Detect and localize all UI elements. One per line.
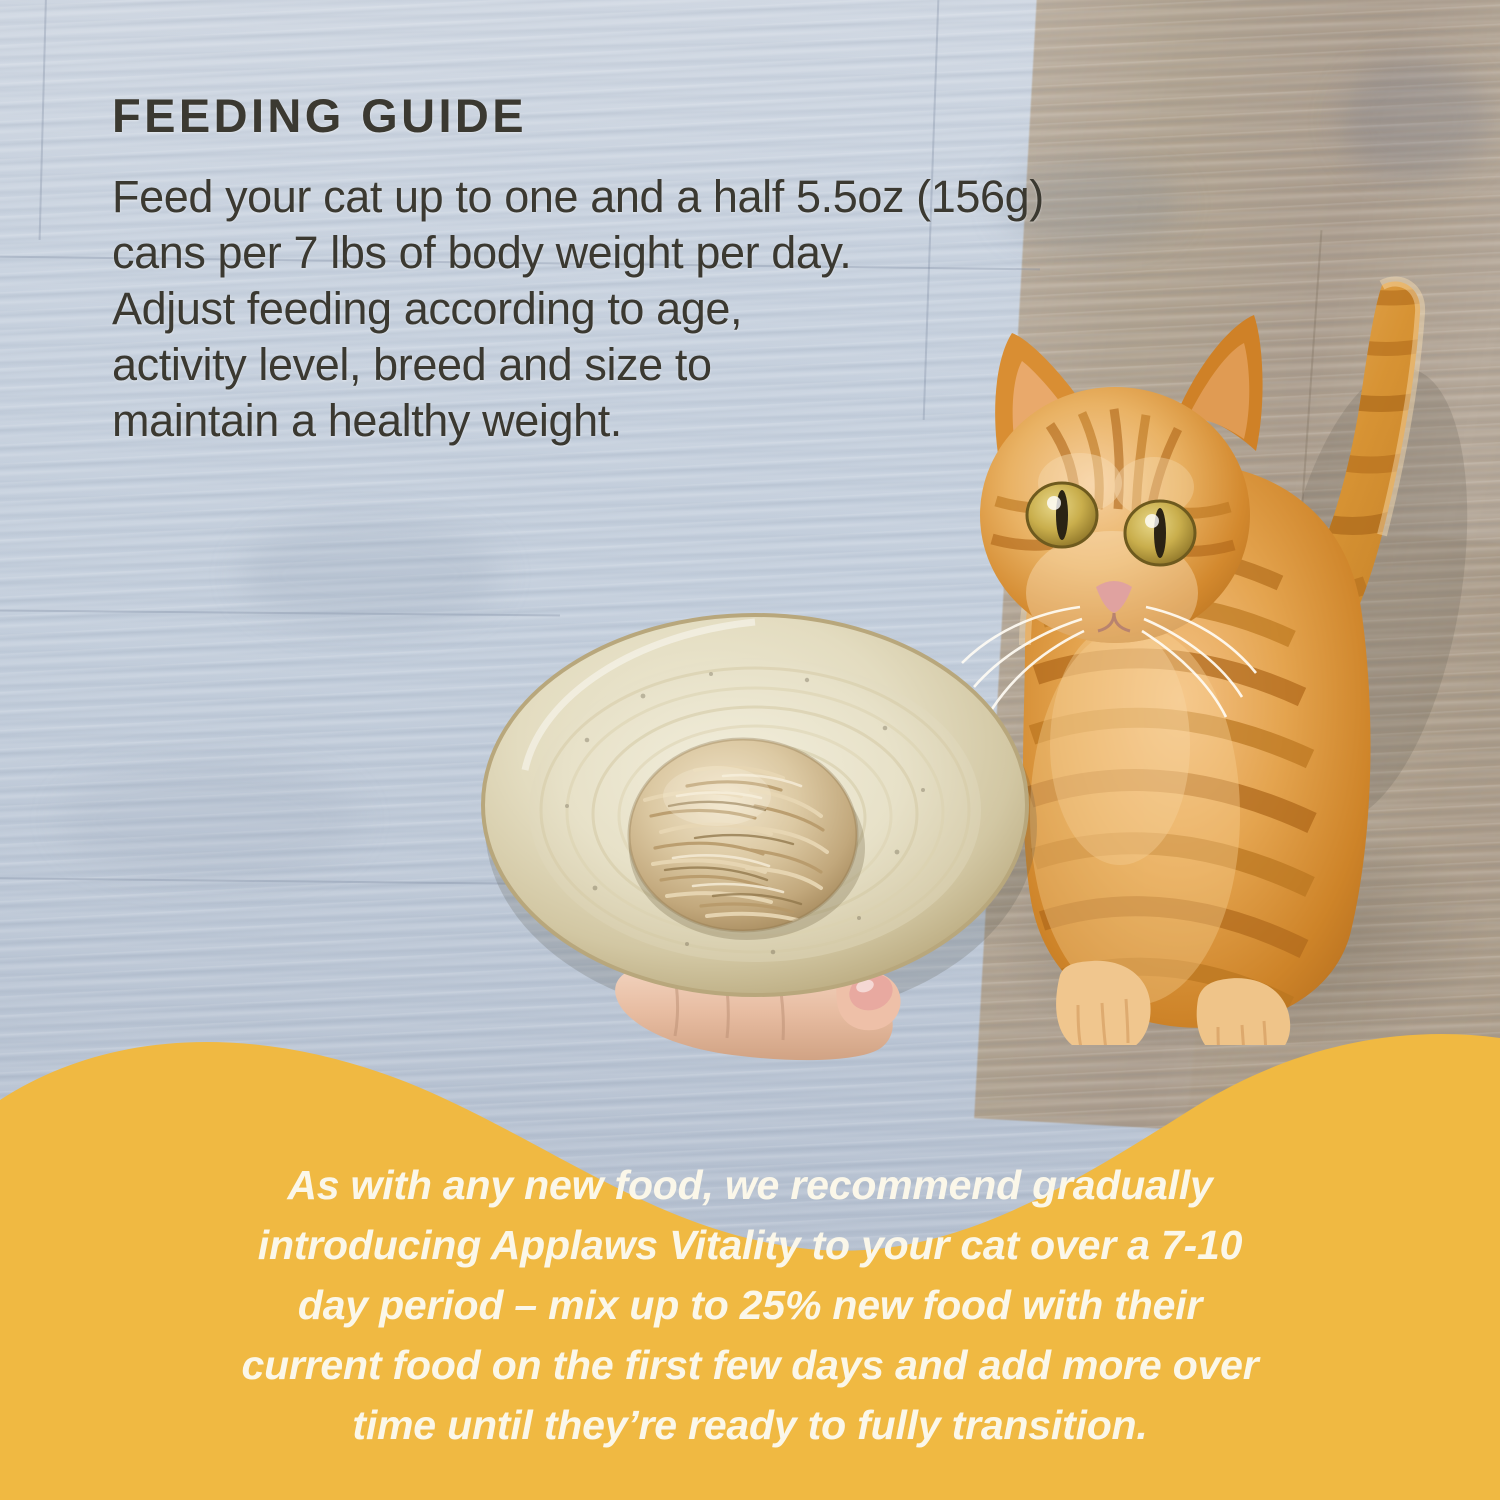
- banner-line-4: current food on the first few days and a…: [60, 1335, 1440, 1395]
- floor-shading: [60, 760, 360, 880]
- feeding-guide-text-block: FEEDING GUIDE Feed your cat up to one an…: [112, 92, 1312, 449]
- page-title: FEEDING GUIDE: [112, 92, 1312, 139]
- guide-body-line-4: activity level, breed and size to: [112, 337, 1312, 393]
- guide-body-line-3: Adjust feeding according to age,: [112, 281, 1312, 337]
- floor-shading: [1340, 60, 1490, 180]
- banner-text: As with any new food, we recommend gradu…: [60, 1155, 1440, 1455]
- guide-body-line-2: cans per 7 lbs of body weight per day.: [112, 225, 1312, 281]
- banner-line-1: As with any new food, we recommend gradu…: [60, 1155, 1440, 1215]
- guide-body-line-5: maintain a healthy weight.: [112, 393, 1312, 449]
- banner-line-2: introducing Applaws Vitality to your cat…: [60, 1215, 1440, 1275]
- infographic-canvas: FEEDING GUIDE Feed your cat up to one an…: [0, 0, 1500, 1500]
- guide-body-line-1: Feed your cat up to one and a half 5.5oz…: [112, 169, 1312, 225]
- transition-advice-banner: As with any new food, we recommend gradu…: [0, 980, 1500, 1500]
- banner-line-3: day period – mix up to 25% new food with…: [60, 1275, 1440, 1335]
- banner-line-5: time until they’re ready to fully transi…: [60, 1395, 1440, 1455]
